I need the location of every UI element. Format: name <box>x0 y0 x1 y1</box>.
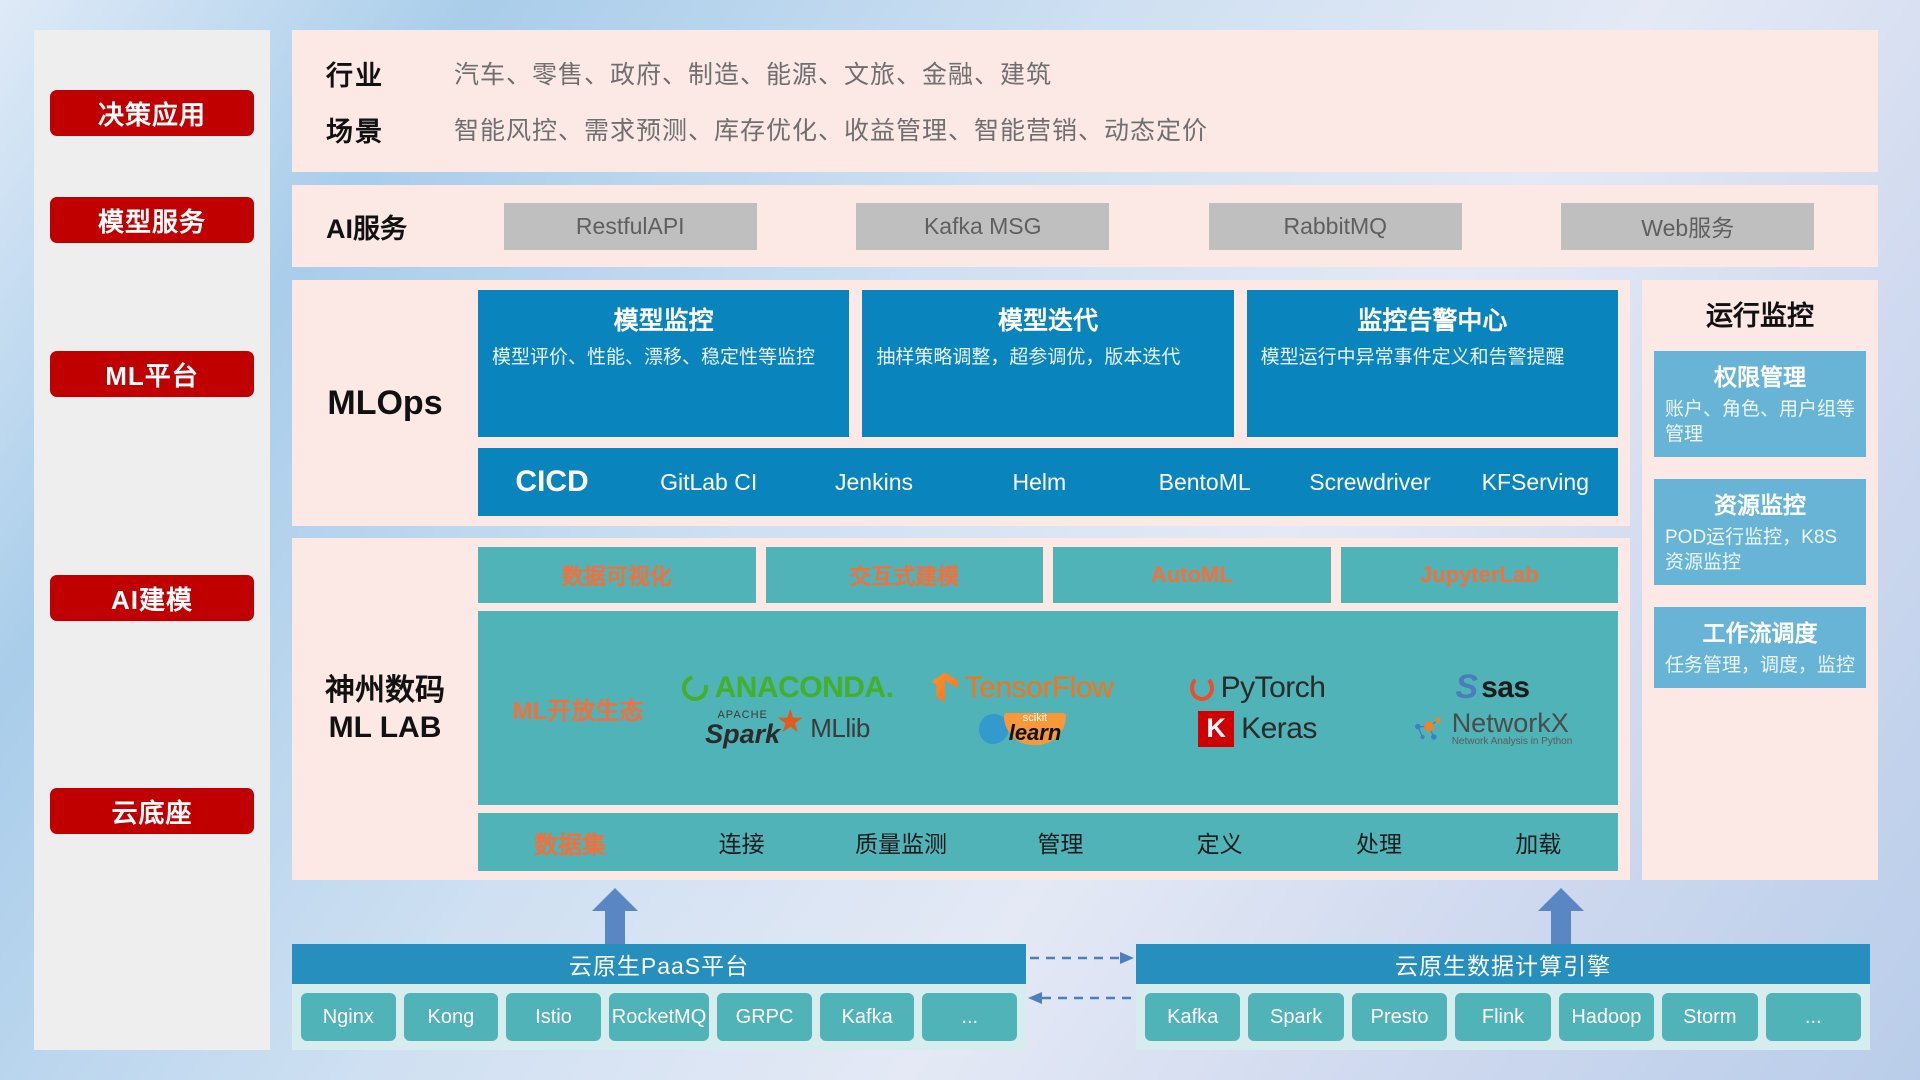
card-title: 监控告警中心 <box>1261 301 1604 337</box>
ai-service-chip-group: RestfulAPI Kafka MSG RabbitMQ Web服务 <box>454 203 1878 250</box>
mllib-logo-text: MLlib <box>810 713 870 744</box>
mlops-label: MLOps <box>292 290 478 516</box>
spark-word-text: Spark <box>705 721 780 748</box>
card-title: 工作流调度 <box>1665 614 1855 648</box>
stage-pill-ai-modeling[interactable]: AI建模 <box>50 575 254 621</box>
stage-label: 模型服务 <box>98 202 206 239</box>
mlops-card-model-monitor[interactable]: 模型监控 模型评价、性能、漂移、稳定性等监控 <box>478 290 849 437</box>
paas-up-arrow-icon <box>592 888 638 944</box>
spark-star-icon <box>777 709 803 735</box>
stage-label: ML平台 <box>105 356 199 393</box>
networkx-logo: NetworkX Network Analysis in Python <box>1413 709 1573 748</box>
stage-label: 云底座 <box>111 793 192 830</box>
sas-logo-text: sas <box>1481 671 1530 705</box>
cicd-bar: CICD GitLab CI Jenkins Helm BentoML Scre… <box>478 448 1618 516</box>
pytorch-flame-icon <box>1190 675 1214 701</box>
tensorflow-logo: TensorFlow <box>932 671 1113 705</box>
cicd-item-kfserving[interactable]: KFServing <box>1453 469 1618 495</box>
keras-logo: K Keras <box>1198 711 1317 747</box>
mlops-band: MLOps 模型监控 模型评价、性能、漂移、稳定性等监控 模型迭代 抽样策略调整… <box>292 280 1630 526</box>
sas-logo: S sas <box>1455 668 1529 707</box>
platform-section: MLOps 模型监控 模型评价、性能、漂移、稳定性等监控 模型迭代 抽样策略调整… <box>292 280 1878 880</box>
cloud-foundation-band: 云原生PaaS平台 Nginx Kong Istio RocketMQ GRPC… <box>292 890 1878 1050</box>
cicd-item-bentoml[interactable]: BentoML <box>1122 469 1287 495</box>
industry-value: 汽车、零售、政府、制造、能源、文旅、金融、建筑 <box>454 55 1052 91</box>
sklearn-learn-text: learn <box>1009 723 1062 744</box>
content-stack: 行业 汽车、零售、政府、制造、能源、文旅、金融、建筑 场景 智能风控、需求预测、… <box>292 30 1878 1050</box>
scikit-learn-logo: scikit learn <box>979 713 1066 745</box>
compute-chip-hadoop[interactable]: Hadoop <box>1559 993 1654 1041</box>
compute-up-arrow-icon <box>1538 888 1584 944</box>
cicd-item-gitlab[interactable]: GitLab CI <box>626 469 791 495</box>
tensorflow-logo-text: TensorFlow <box>965 671 1113 705</box>
dataset-item-manage[interactable]: 管理 <box>981 825 1140 859</box>
paas-header: 云原生PaaS平台 <box>292 944 1026 984</box>
ml-ecosystem-logos: ANACONDA. TensorFlow PyTorch <box>670 668 1610 748</box>
cicd-title: CICD <box>478 465 626 499</box>
scenario-row: 场景 智能风控、需求预测、库存优化、收益管理、智能营销、动态定价 <box>326 101 1878 157</box>
card-desc: 抽样策略调整，超参调优，版本迭代 <box>876 345 1219 371</box>
ml-ecosystem-panel: ML开放生态 ANACONDA. TensorFlow <box>478 611 1618 805</box>
paas-chip-more[interactable]: ... <box>922 993 1017 1041</box>
compute-chip-spark[interactable]: Spark <box>1248 993 1343 1041</box>
card-desc: 模型评价、性能、漂移、稳定性等监控 <box>492 345 835 371</box>
ai-service-label: AI服务 <box>326 207 454 246</box>
networkx-tagline: Network Analysis in Python <box>1452 737 1573 748</box>
networkx-logo-text: NetworkX <box>1452 709 1573 737</box>
ml-lab-label-line1: 神州数码 <box>325 674 445 707</box>
dataset-item-process[interactable]: 处理 <box>1299 825 1458 859</box>
paas-chip-grpc[interactable]: GRPC <box>717 993 812 1041</box>
ml-lab-content: 数据可视化 交互式建模 AutoML JupyterLab ML开放生态 <box>478 547 1618 871</box>
dataset-bar: 数据集 连接 质量监测 管理 定义 处理 加载 <box>478 813 1618 871</box>
stage-pill-cloud-base[interactable]: 云底座 <box>50 788 254 834</box>
dataset-item-load[interactable]: 加载 <box>1459 825 1618 859</box>
keras-k-icon: K <box>1198 711 1234 747</box>
card-title: 资源监控 <box>1665 486 1855 520</box>
paas-chip-istio[interactable]: Istio <box>506 993 601 1041</box>
paas-chip-group: Nginx Kong Istio RocketMQ GRPC Kafka ... <box>292 984 1026 1050</box>
bidirectional-dashed-arrows-icon <box>1026 924 1136 1044</box>
industry-scenario-band: 行业 汽车、零售、政府、制造、能源、文旅、金融、建筑 场景 智能风控、需求预测、… <box>292 30 1878 172</box>
card-desc: 模型运行中异常事件定义和告警提醒 <box>1261 345 1604 371</box>
anaconda-logo: ANACONDA. <box>682 671 894 705</box>
card-title: 模型监控 <box>492 301 835 337</box>
industry-row: 行业 汽车、零售、政府、制造、能源、文旅、金融、建筑 <box>326 45 1878 101</box>
cicd-item-helm[interactable]: Helm <box>957 469 1122 495</box>
lab-tool-automl[interactable]: AutoML <box>1053 547 1331 603</box>
scenario-value: 智能风控、需求预测、库存优化、收益管理、智能营销、动态定价 <box>454 111 1208 147</box>
stage-label: AI建模 <box>111 580 193 617</box>
monitor-card-workflow[interactable]: 工作流调度 任务管理，调度，监控 <box>1654 607 1866 688</box>
runtime-monitor-title: 运行监控 <box>1706 294 1814 333</box>
card-title: 模型迭代 <box>876 301 1219 337</box>
paas-group: 云原生PaaS平台 Nginx Kong Istio RocketMQ GRPC… <box>292 944 1026 1050</box>
pytorch-logo: PyTorch <box>1190 671 1326 705</box>
cicd-item-group: GitLab CI Jenkins Helm BentoML Screwdriv… <box>626 469 1618 495</box>
mlops-content: 模型监控 模型评价、性能、漂移、稳定性等监控 模型迭代 抽样策略调整，超参调优，… <box>478 290 1618 516</box>
tensorflow-mark-icon <box>932 673 958 703</box>
cicd-item-jenkins[interactable]: Jenkins <box>791 469 956 495</box>
card-desc: 任务管理，调度，监控 <box>1665 653 1855 678</box>
architecture-diagram: 决策应用 模型服务 ML平台 AI建模 云底座 行业 汽车、零售、政府、制造、能… <box>0 0 1920 1080</box>
mlops-card-alert-center[interactable]: 监控告警中心 模型运行中异常事件定义和告警提醒 <box>1247 290 1618 437</box>
lab-tool-data-viz[interactable]: 数据可视化 <box>478 547 756 603</box>
monitor-card-resource[interactable]: 资源监控 POD运行监控，K8S资源监控 <box>1654 479 1866 585</box>
cicd-item-screwdriver[interactable]: Screwdriver <box>1287 469 1452 495</box>
anaconda-ring-icon <box>677 670 713 706</box>
ai-chip-restful[interactable]: RestfulAPI <box>504 203 757 250</box>
card-desc: 账户、角色、用户组等管理 <box>1665 397 1855 447</box>
monitor-card-permission[interactable]: 权限管理 账户、角色、用户组等管理 <box>1654 351 1866 457</box>
compute-chip-more[interactable]: ... <box>1766 993 1861 1041</box>
mlops-card-group: 模型监控 模型评价、性能、漂移、稳定性等监控 模型迭代 抽样策略调整，超参调优，… <box>478 290 1618 437</box>
ml-lab-label: 神州数码 ML LAB <box>292 547 478 871</box>
sklearn-badge-icon: scikit learn <box>1004 713 1066 745</box>
paas-chip-rocketmq[interactable]: RocketMQ <box>609 993 709 1041</box>
mlops-card-model-iteration[interactable]: 模型迭代 抽样策略调整，超参调优，版本迭代 <box>862 290 1233 437</box>
dataset-item-connect[interactable]: 连接 <box>662 825 821 859</box>
ai-chip-kafka[interactable]: Kafka MSG <box>856 203 1109 250</box>
compute-chip-group: Kafka Spark Presto Flink Hadoop Storm ..… <box>1136 984 1870 1050</box>
ai-service-band: AI服务 RestfulAPI Kafka MSG RabbitMQ Web服务 <box>292 185 1878 267</box>
runtime-monitor-column: 运行监控 权限管理 账户、角色、用户组等管理 资源监控 POD运行监控，K8S资… <box>1642 280 1878 880</box>
networkx-graph-icon <box>1413 715 1445 743</box>
sas-s-icon: S <box>1455 668 1478 707</box>
keras-logo-text: Keras <box>1241 712 1317 746</box>
ml-lab-label-line2: ML LAB <box>329 711 442 744</box>
anaconda-logo-text: ANACONDA. <box>715 671 894 705</box>
compute-chip-storm[interactable]: Storm <box>1662 993 1757 1041</box>
pytorch-logo-text: PyTorch <box>1221 671 1326 705</box>
compute-engine-group: 云原生数据计算引擎 Kafka Spark Presto Flink Hadoo… <box>1136 944 1870 1050</box>
paas-chip-nginx[interactable]: Nginx <box>301 993 396 1041</box>
stage-rail: 决策应用 模型服务 ML平台 AI建模 云底座 <box>34 30 270 1050</box>
spark-mllib-logo: APACHE Spark MLlib <box>705 710 870 748</box>
card-desc: POD运行监控，K8S资源监控 <box>1665 525 1855 575</box>
compute-engine-header: 云原生数据计算引擎 <box>1136 944 1870 984</box>
stage-label: 决策应用 <box>98 95 206 132</box>
lab-tool-jupyterlab[interactable]: JupyterLab <box>1341 547 1619 603</box>
paas-chip-kafka[interactable]: Kafka <box>820 993 915 1041</box>
industry-key: 行业 <box>326 54 454 93</box>
ml-ecosystem-label: ML开放生态 <box>486 691 670 726</box>
dataset-item-quality[interactable]: 质量监测 <box>821 825 980 859</box>
dataset-title: 数据集 <box>478 825 662 860</box>
ai-chip-web[interactable]: Web服务 <box>1561 203 1814 250</box>
dataset-item-define[interactable]: 定义 <box>1140 825 1299 859</box>
dataset-item-group: 连接 质量监测 管理 定义 处理 加载 <box>662 825 1618 859</box>
compute-chip-flink[interactable]: Flink <box>1455 993 1550 1041</box>
scenario-key: 场景 <box>326 110 454 149</box>
ai-chip-rabbitmq[interactable]: RabbitMQ <box>1209 203 1462 250</box>
compute-chip-presto[interactable]: Presto <box>1352 993 1447 1041</box>
platform-main-column: MLOps 模型监控 模型评价、性能、漂移、稳定性等监控 模型迭代 抽样策略调整… <box>292 280 1630 880</box>
compute-chip-kafka[interactable]: Kafka <box>1145 993 1240 1041</box>
paas-chip-kong[interactable]: Kong <box>404 993 499 1041</box>
stage-pill-ml-platform[interactable]: ML平台 <box>50 351 254 397</box>
stage-pill-model-svc[interactable]: 模型服务 <box>50 197 254 243</box>
card-title: 权限管理 <box>1665 358 1855 392</box>
stage-pill-decision[interactable]: 决策应用 <box>50 90 254 136</box>
lab-tool-interactive[interactable]: 交互式建模 <box>766 547 1044 603</box>
ml-lab-band: 神州数码 ML LAB 数据可视化 交互式建模 AutoML JupyterLa… <box>292 538 1630 880</box>
ml-lab-tool-group: 数据可视化 交互式建模 AutoML JupyterLab <box>478 547 1618 603</box>
